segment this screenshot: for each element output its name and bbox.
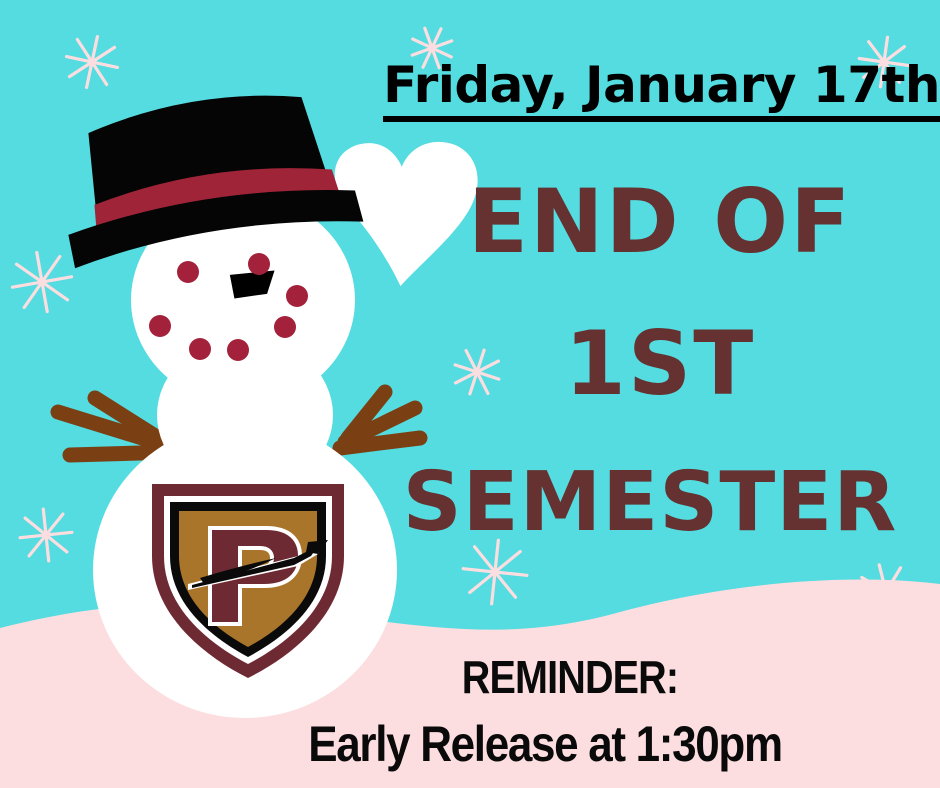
headline-line-1: END OF — [400, 178, 920, 266]
snowman-arm-left — [58, 398, 175, 455]
headline-line-2: 1ST — [400, 320, 920, 408]
reminder-label: REMINDER: — [252, 650, 888, 704]
date-heading: Friday, January 17th — [340, 56, 940, 114]
date-text: Friday, January 17th — [383, 56, 940, 122]
poster-canvas: Friday, January 17th END OF 1ST SEMESTER… — [0, 0, 940, 788]
headline-line-3: SEMESTER — [380, 462, 920, 544]
reminder-detail: Early Release at 1:30pm — [197, 715, 892, 773]
